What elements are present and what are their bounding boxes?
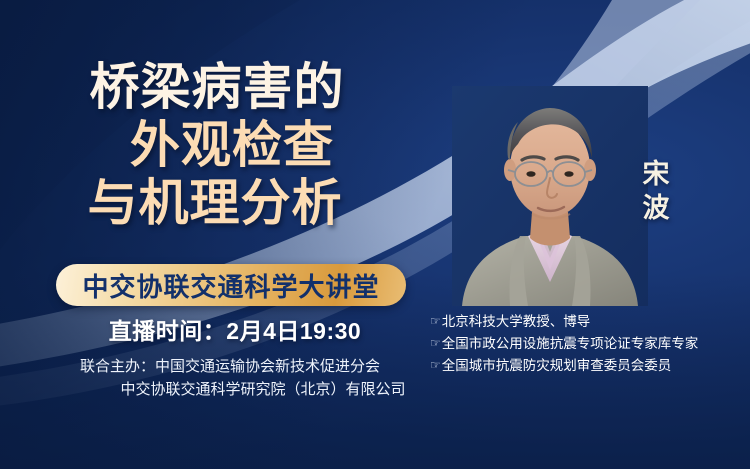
title-line-3: 与机理分析 <box>0 178 440 228</box>
credential-label: 北京科技大学教授、博导 <box>442 311 591 333</box>
series-name-label: 中交协联交通科学大讲堂 <box>82 267 379 304</box>
webinar-poster: 桥梁病害的 外观检查 与机理分析 中交协联交通科学大讲堂 直播时间：2月4日19… <box>0 0 750 469</box>
organizers: 联合主办：中国交通运输协会新技术促进分会 中交协联交通科学研究院（北京）有限公司 <box>0 355 460 402</box>
broadcast-time: 直播时间：2月4日19:30 <box>0 312 470 346</box>
pointing-hand-icon: ☞ <box>430 356 441 375</box>
pointing-hand-icon: ☞ <box>430 334 441 353</box>
title-line-2: 外观检查 <box>24 120 440 170</box>
speaker-credentials: ☞ 北京科技大学教授、博导 ☞ 全国市政公用设施抗震专项论证专家库专家 ☞ 全国… <box>430 311 740 377</box>
credential-item: ☞ 全国市政公用设施抗震专项论证专家库专家 <box>430 333 740 355</box>
credential-label: 全国城市抗震防灾规划审查委员会委员 <box>442 355 672 377</box>
organizer-line-2: 中交协联交通科学研究院（北京）有限公司 <box>0 378 460 401</box>
credential-item: ☞ 北京科技大学教授、博导 <box>430 311 740 333</box>
speaker-name-char-1: 宋 <box>634 158 678 192</box>
credential-item: ☞ 全国城市抗震防灾规划审查委员会委员 <box>430 355 740 377</box>
credential-label: 全国市政公用设施抗震专项论证专家库专家 <box>442 333 699 355</box>
speaker-name: 宋 波 <box>634 158 678 226</box>
speaker-portrait <box>452 86 648 306</box>
organizer-line-1: 联合主办：中国交通运输协会新技术促进分会 <box>0 355 460 378</box>
poster-title: 桥梁病害的 外观检查 与机理分析 <box>0 62 440 228</box>
series-name-badge: 中交协联交通科学大讲堂 <box>56 264 406 306</box>
speaker-name-char-2: 波 <box>634 192 678 226</box>
title-line-1: 桥梁病害的 <box>0 62 440 112</box>
pointing-hand-icon: ☞ <box>430 312 441 331</box>
